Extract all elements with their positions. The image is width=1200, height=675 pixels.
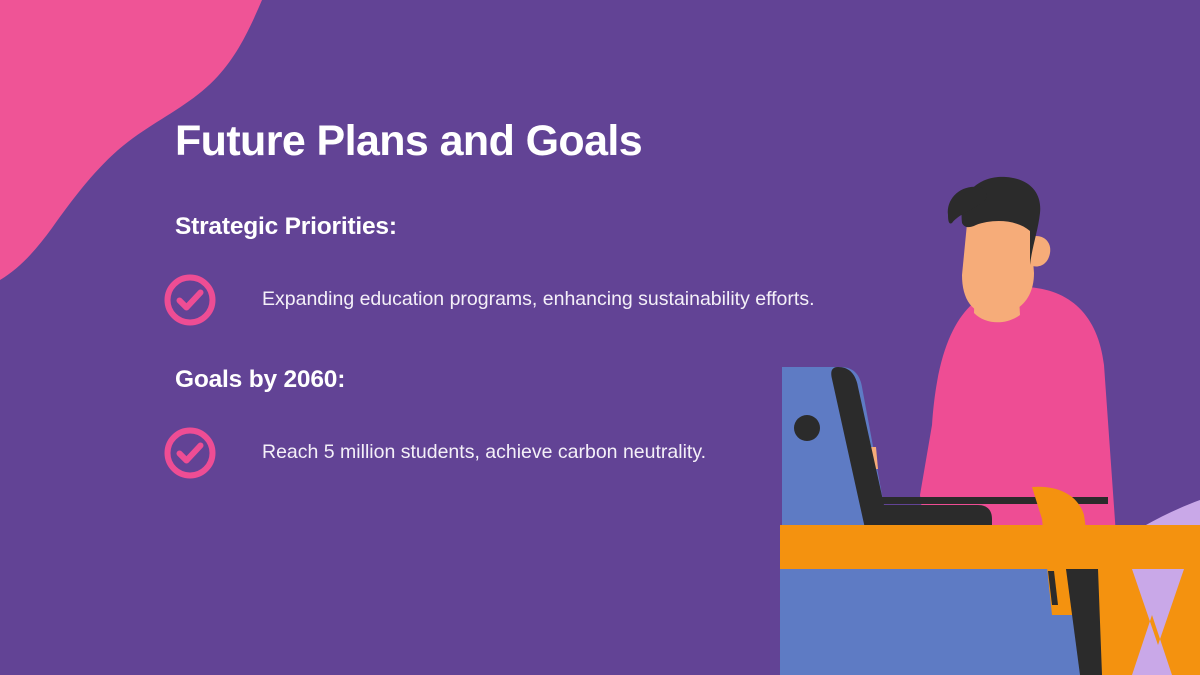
section-heading: Goals by 2060: (175, 365, 875, 394)
circle-check-icon (160, 270, 220, 330)
page-title: Future Plans and Goals (175, 118, 642, 165)
list-item: Reach 5 million students, achieve carbon… (175, 423, 875, 483)
chair-bar-shape (780, 525, 1200, 569)
laptop-camera-dot (794, 415, 820, 441)
chair-leg-v-shape (1098, 569, 1200, 675)
circle-check-icon (160, 423, 220, 483)
section-goals-by-2060: Goals by 2060: Reach 5 million students,… (175, 365, 875, 483)
list-item-label: Expanding education programs, enhancing … (262, 286, 814, 312)
slide-content: Future Plans and Goals Strategic Priorit… (0, 0, 860, 675)
list-item: Expanding education programs, enhancing … (175, 270, 875, 330)
slide: Future Plans and Goals Strategic Priorit… (0, 0, 1200, 675)
list-item-label: Reach 5 million students, achieve carbon… (262, 439, 706, 465)
section-strategic-priorities: Strategic Priorities: Expanding educatio… (175, 212, 875, 330)
person-working-at-laptop-illustration (780, 175, 1200, 675)
section-heading: Strategic Priorities: (175, 212, 875, 241)
